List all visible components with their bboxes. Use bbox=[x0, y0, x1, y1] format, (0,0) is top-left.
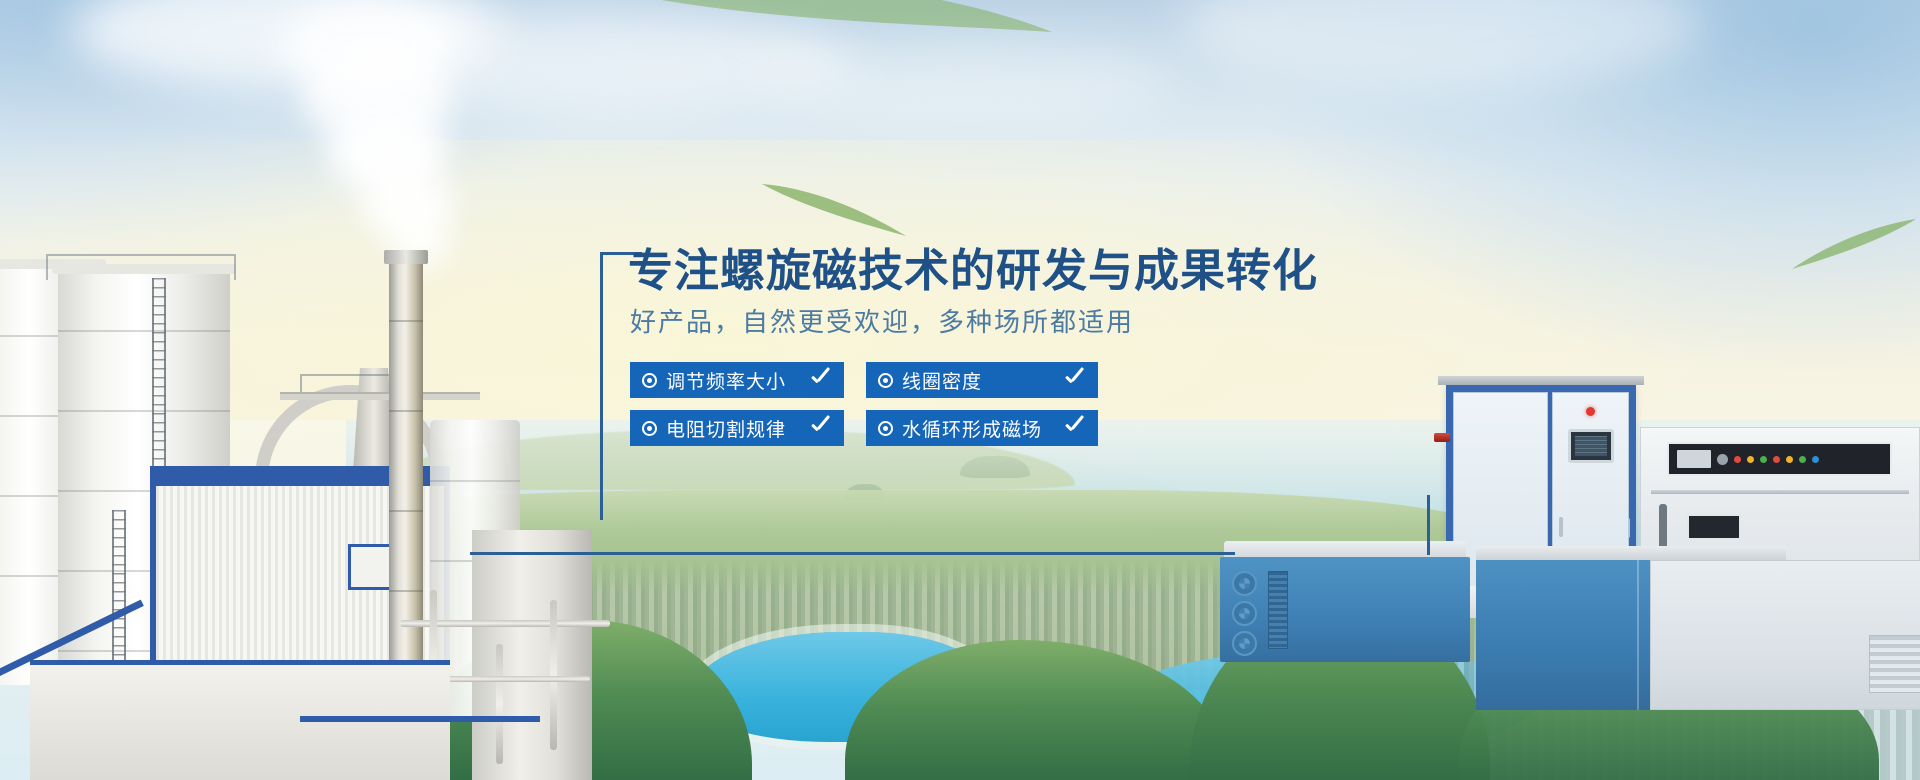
bracket-bottom bbox=[470, 552, 1235, 555]
white-machine-body bbox=[1650, 560, 1920, 710]
cloud-wisp bbox=[760, 40, 1180, 120]
bracket-vertical bbox=[600, 252, 603, 520]
bracket-bottom-right bbox=[1427, 495, 1430, 555]
check-icon bbox=[810, 369, 832, 391]
feature-pill-coil-density[interactable]: 线圈密度 bbox=[866, 362, 1098, 398]
check-icon bbox=[810, 417, 832, 439]
feature-pill-resistance[interactable]: 电阻切割规律 bbox=[630, 410, 844, 446]
fan-icon bbox=[1232, 631, 1257, 656]
fan-icon bbox=[1232, 571, 1257, 596]
industrial-plant bbox=[0, 220, 620, 780]
blue-support-beam bbox=[300, 716, 540, 722]
radio-icon bbox=[878, 373, 893, 388]
oven-latch-icon bbox=[1659, 504, 1667, 550]
oven-display bbox=[1677, 450, 1711, 468]
feature-pill-water-circulation[interactable]: 水循环形成磁场 bbox=[866, 410, 1098, 446]
oven-seam bbox=[1651, 490, 1909, 494]
oven-sub-display bbox=[1687, 514, 1741, 540]
oven-knob-icon bbox=[1717, 454, 1728, 465]
oven-control-panel bbox=[1667, 442, 1892, 476]
chiller-grille bbox=[1268, 571, 1288, 649]
silo-railing bbox=[46, 254, 236, 280]
hmi-display bbox=[1568, 429, 1614, 463]
platform bbox=[280, 392, 480, 400]
feature-list: 调节频率大小 线圈密度 电阻切割规律 水循环形成磁场 bbox=[630, 362, 1098, 446]
machine-vent bbox=[1869, 635, 1920, 693]
page-title: 专注螺旋磁技术的研发与成果转化 bbox=[628, 234, 1318, 299]
page-subtitle: 好产品，自然更受欢迎，多种场所都适用 bbox=[630, 302, 1134, 339]
cloud-wisp bbox=[330, 10, 850, 110]
check-icon bbox=[1064, 369, 1086, 391]
hero-banner: 专注螺旋磁技术的研发与成果转化 好产品，自然更受欢迎，多种场所都适用 调节频率大… bbox=[0, 0, 1920, 780]
feature-label: 线圈密度 bbox=[902, 367, 982, 394]
industrial-machinery-group bbox=[1220, 290, 1920, 710]
radio-icon bbox=[642, 421, 657, 436]
cabinet-roof bbox=[1438, 376, 1644, 385]
check-icon bbox=[1064, 417, 1086, 439]
emergency-knob-icon bbox=[1434, 433, 1450, 442]
water-chiller-unit bbox=[1220, 557, 1470, 662]
feature-label: 电阻切割规律 bbox=[666, 415, 786, 442]
radio-icon bbox=[642, 373, 657, 388]
banner-text-block: 专注螺旋磁技术的研发与成果转化 好产品，自然更受欢迎，多种场所都适用 调节频率大… bbox=[600, 252, 1300, 537]
fan-icon bbox=[1232, 601, 1257, 626]
feature-pill-frequency[interactable]: 调节频率大小 bbox=[630, 362, 844, 398]
feature-label: 调节频率大小 bbox=[666, 367, 786, 394]
radio-icon bbox=[878, 421, 893, 436]
status-led-icon bbox=[1586, 407, 1595, 416]
feature-label: 水循环形成磁场 bbox=[902, 415, 1042, 442]
